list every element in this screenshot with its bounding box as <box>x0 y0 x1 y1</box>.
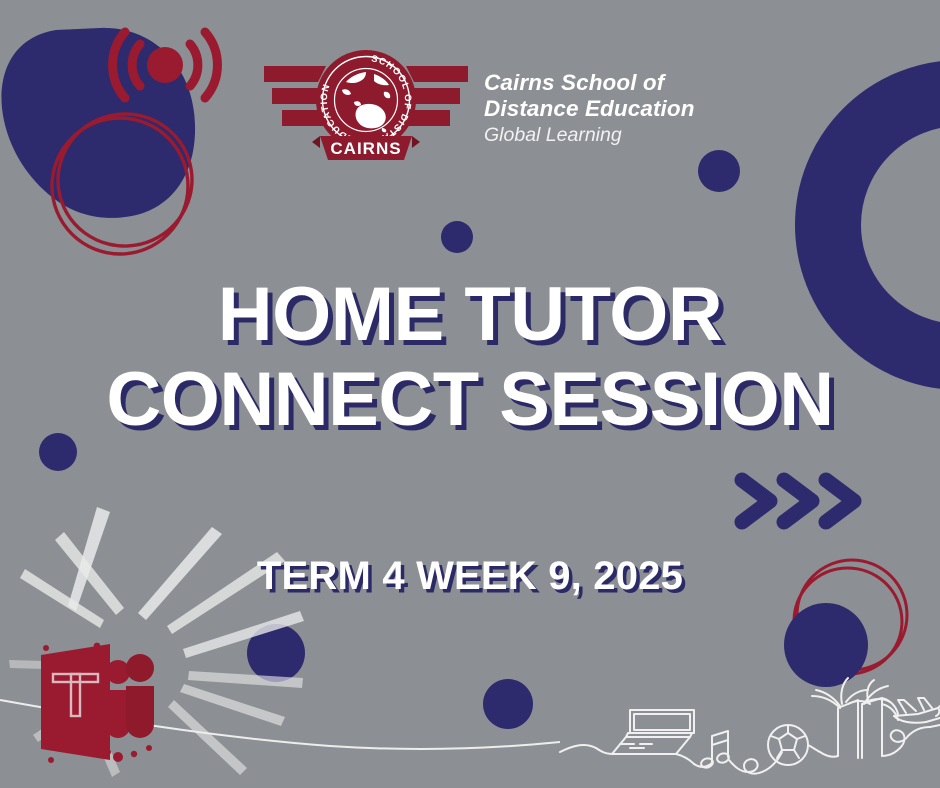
brand-lockup: SCHOOL OF DISTANCE EDUCATION CAIRNS Cair… <box>262 44 695 168</box>
navy-circle-bottom-mid <box>483 679 533 729</box>
laptop-icon <box>596 710 694 764</box>
brand-line-2: Distance Education <box>484 96 695 122</box>
soccer-ball-icon <box>762 725 820 772</box>
airplane-icon <box>891 698 940 748</box>
navy-dot-upper-mid <box>441 221 473 253</box>
poster-canvas: SCHOOL OF DISTANCE EDUCATION CAIRNS Cair… <box>0 0 940 788</box>
page-title: HOME TUTOR CONNECT SESSION <box>0 272 940 442</box>
navy-blob-top-left <box>1 28 195 218</box>
palm-trees-buildings-icon <box>812 678 900 758</box>
crest-banner-text: CAIRNS <box>330 139 401 158</box>
navy-circle-lower-left <box>247 624 305 682</box>
line-art-scene <box>560 678 940 774</box>
triple-chevron-right-icon <box>742 480 854 522</box>
cairns-school-of-distance-education-crest: SCHOOL OF DISTANCE EDUCATION CAIRNS <box>262 44 470 168</box>
white-burst-rays <box>9 507 304 777</box>
microsoft-teams-logo <box>41 643 154 763</box>
brand-line-1: Cairns School of <box>484 70 695 96</box>
navy-circle-bottom-right <box>784 603 868 687</box>
page-subtitle: TERM 4 WEEK 9, 2025 <box>0 554 940 599</box>
music-note-icon <box>694 731 762 774</box>
crest-banner: CAIRNS <box>312 136 420 160</box>
brand-tagline: Global Learning <box>484 124 695 146</box>
page-title-line-1: HOME TUTOR <box>0 272 940 357</box>
brand-text-block: Cairns School of Distance Education Glob… <box>484 66 695 146</box>
navy-dot-upper-right <box>698 150 740 192</box>
white-connector-line <box>0 700 560 749</box>
page-title-line-2: CONNECT SESSION <box>0 357 940 442</box>
crest-seal <box>316 50 416 150</box>
navy-dot-small-top-left <box>130 152 158 180</box>
broadcast-signal-icon <box>113 32 218 98</box>
red-double-ring-top-left <box>49 105 200 254</box>
